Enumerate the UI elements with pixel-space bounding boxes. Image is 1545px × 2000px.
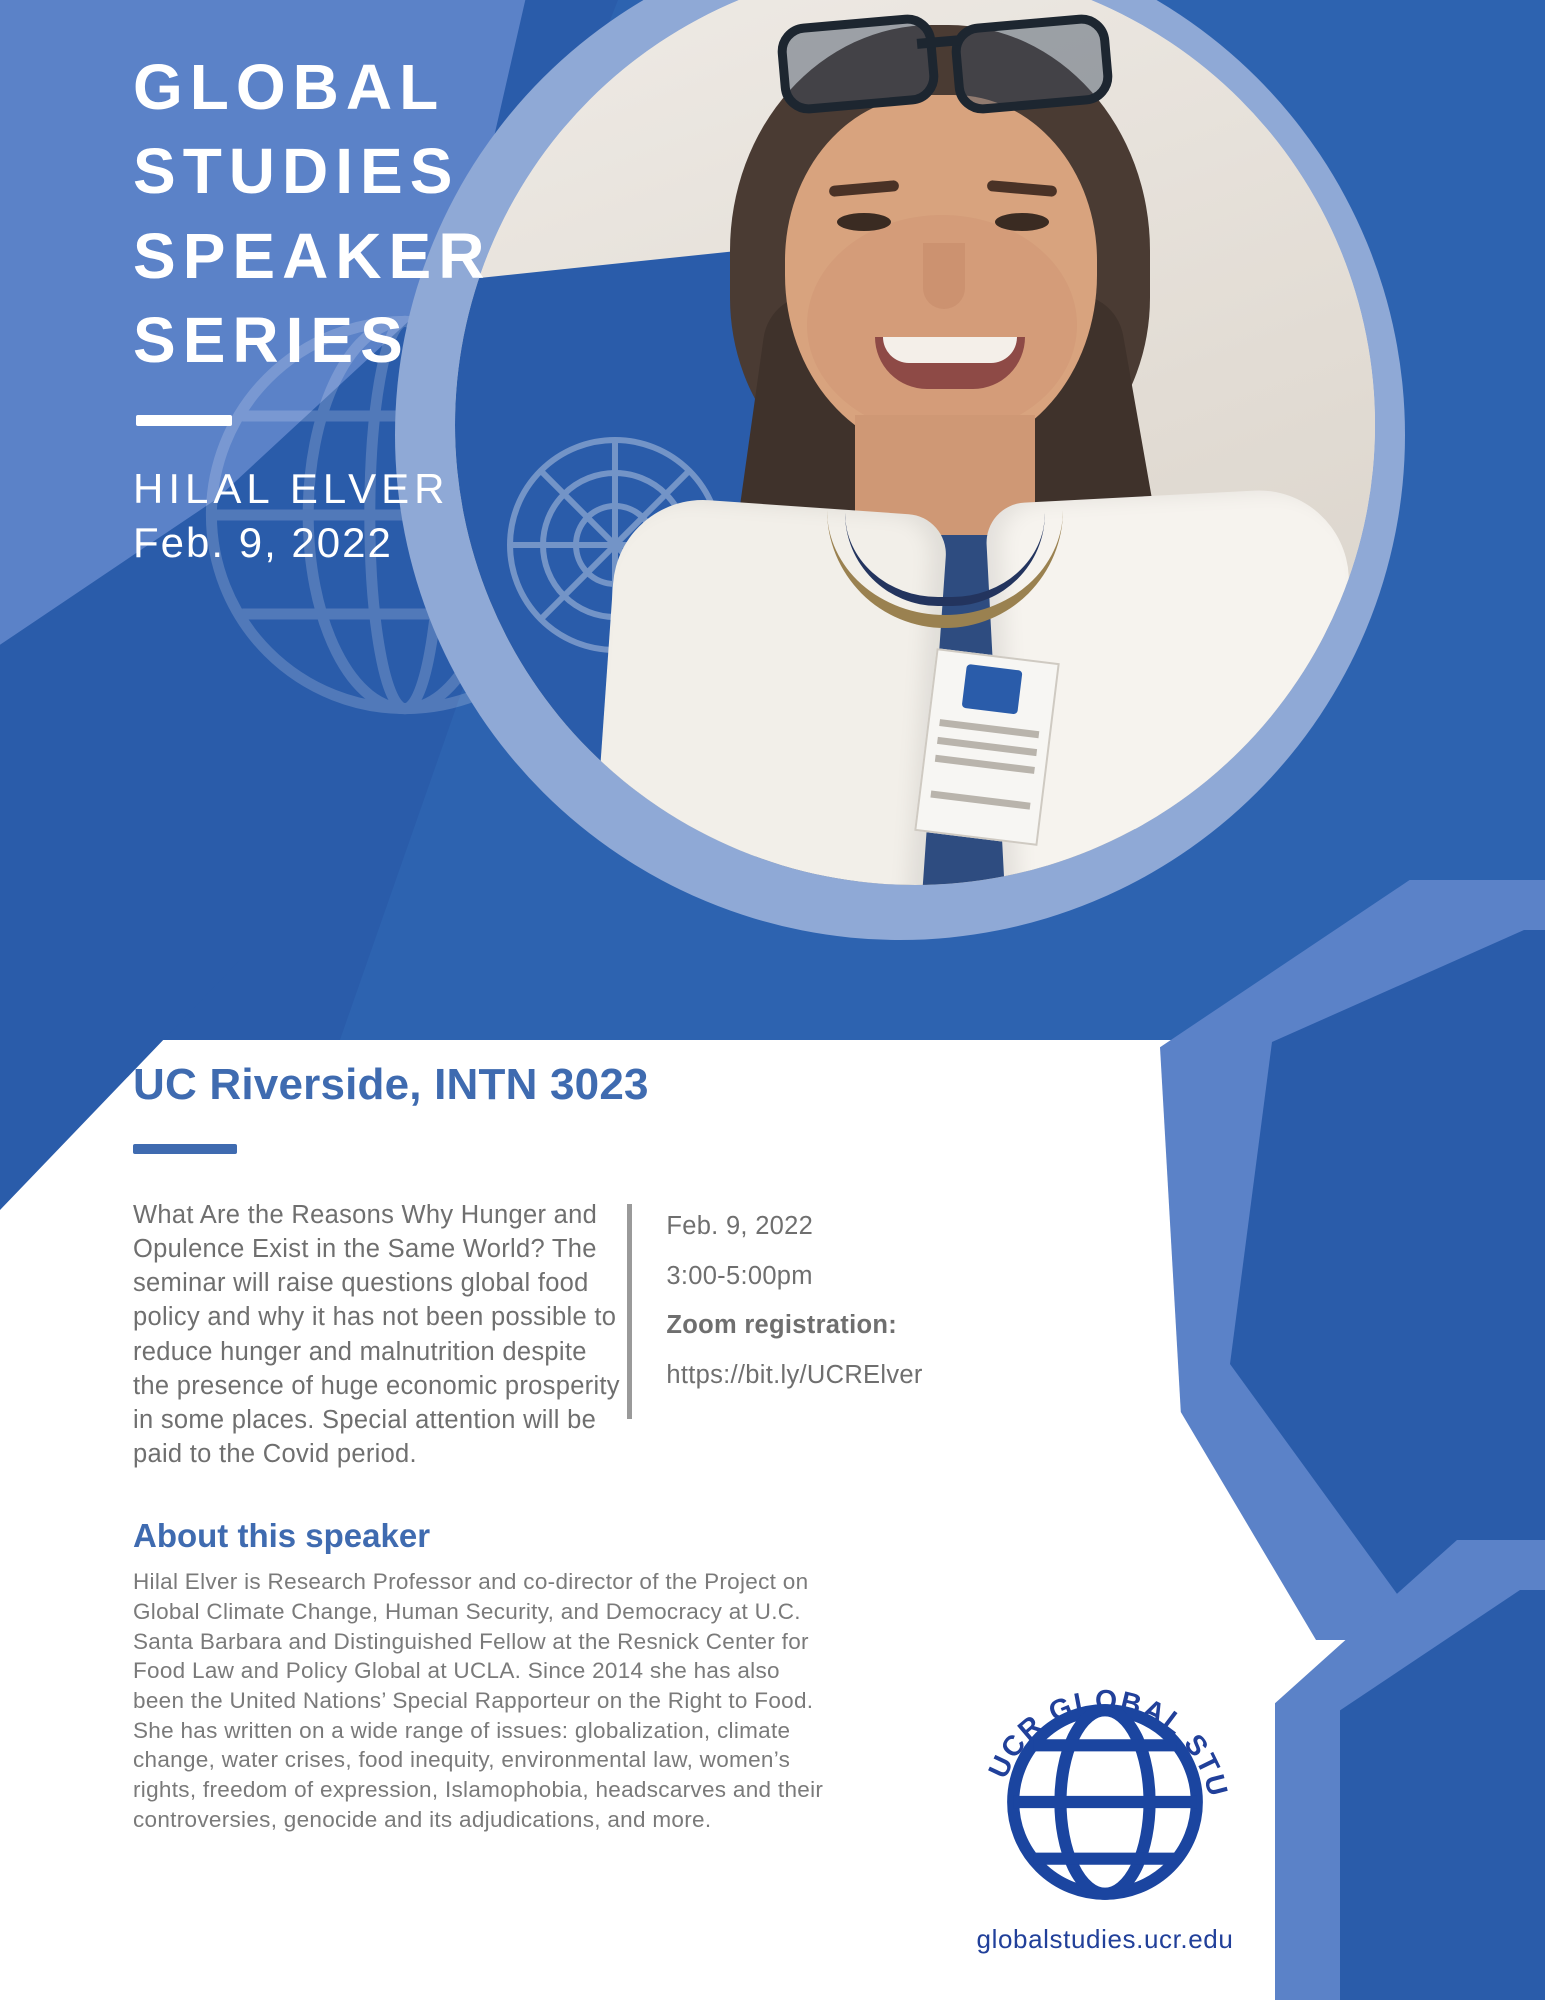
title-divider (133, 1144, 237, 1154)
hero-speaker-date: Feb. 9, 2022 (133, 516, 753, 570)
conference-badge (914, 648, 1059, 846)
ucr-global-studies-logo: UCR GLOBAL STUDIES globalstudies.ucr.edu (955, 1640, 1255, 1955)
headline-line-3: SPEAKER (133, 214, 753, 298)
hero-headline: GLOBAL STUDIES SPEAKER SERIES HILAL ELVE… (133, 45, 753, 569)
website-url[interactable]: globalstudies.ucr.edu (955, 1924, 1255, 1955)
headline-line-2: STUDIES (133, 129, 753, 213)
poster: GLOBAL STUDIES SPEAKER SERIES HILAL ELVE… (0, 0, 1545, 2000)
registration-label: Zoom registration: (666, 1301, 963, 1351)
description-column: What Are the Reasons Why Hunger and Opul… (133, 1198, 627, 1471)
page-title: UC Riverside, INTN 3023 (133, 1060, 1000, 1110)
content-area: UC Riverside, INTN 3023 What Are the Rea… (0, 1060, 1000, 1834)
event-time: 3:00-5:00pm (666, 1252, 963, 1302)
eyeglasses-icon (775, 13, 1105, 99)
about-bio: Hilal Elver is Research Professor and co… (133, 1567, 833, 1834)
event-date: Feb. 9, 2022 (666, 1202, 963, 1252)
about-heading: About this speaker (133, 1517, 1000, 1555)
globe-icon: UCR GLOBAL STUDIES (970, 1640, 1240, 1910)
hero-speaker-name: HILAL ELVER (133, 462, 753, 516)
column-divider (627, 1204, 632, 1419)
event-details-column: Feb. 9, 2022 3:00-5:00pm Zoom registrati… (666, 1198, 963, 1471)
registration-link[interactable]: https://bit.ly/UCRElver (666, 1351, 963, 1401)
headline-divider (136, 415, 232, 426)
details-columns: What Are the Reasons Why Hunger and Opul… (133, 1198, 963, 1471)
event-description: What Are the Reasons Why Hunger and Opul… (133, 1198, 627, 1471)
headline-line-4: SERIES (133, 298, 753, 382)
hero-banner: GLOBAL STUDIES SPEAKER SERIES HILAL ELVE… (0, 0, 1545, 1040)
headline-line-1: GLOBAL (133, 45, 753, 129)
